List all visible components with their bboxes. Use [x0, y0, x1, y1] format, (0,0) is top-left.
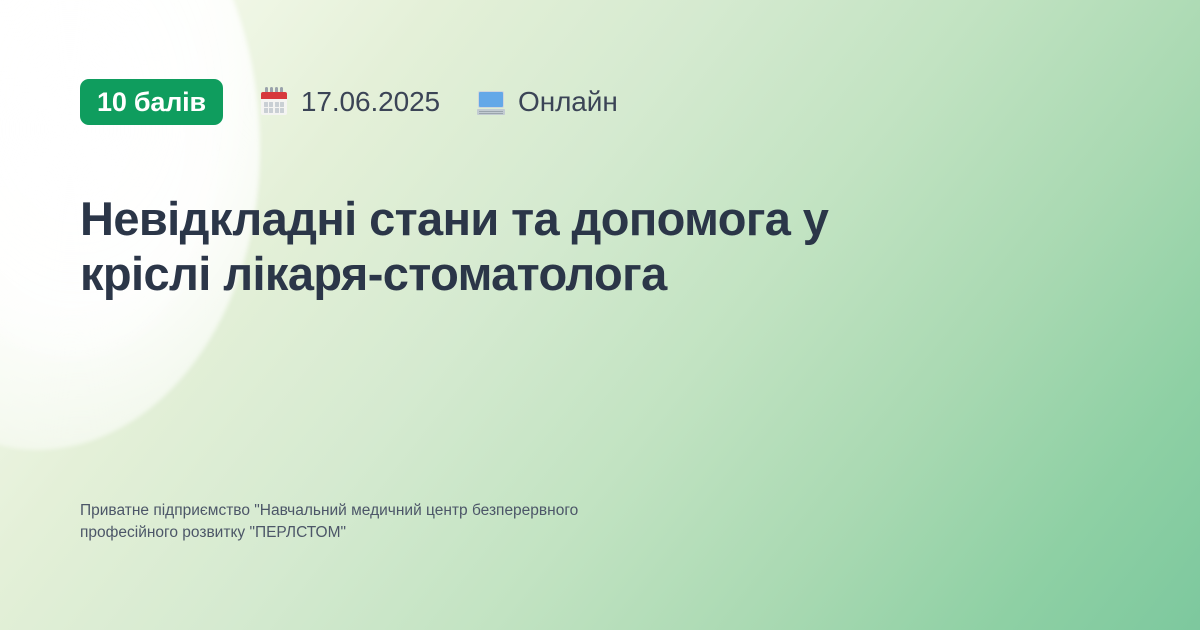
page-title-line-1: Невідкладні стани та допомога у: [80, 192, 828, 245]
meta-item-date: 17.06.2025: [259, 87, 440, 117]
points-badge: 10 балів: [80, 79, 223, 125]
calendar-icon: [259, 87, 289, 117]
event-date-text: 17.06.2025: [301, 88, 440, 116]
event-promo-card: 10 балів 17.06.2025: [0, 0, 1200, 630]
meta-item-format: Онлайн: [476, 87, 618, 117]
meta-row: 10 балів 17.06.2025: [80, 78, 1120, 126]
monitor-icon: [476, 87, 506, 117]
page-title: Невідкладні стани та допомога у кріслі л…: [80, 192, 1040, 302]
page-title-line-2: кріслі лікаря-стоматолога: [80, 247, 667, 300]
event-format-text: Онлайн: [518, 88, 618, 116]
card-content: 10 балів 17.06.2025: [0, 0, 1200, 630]
